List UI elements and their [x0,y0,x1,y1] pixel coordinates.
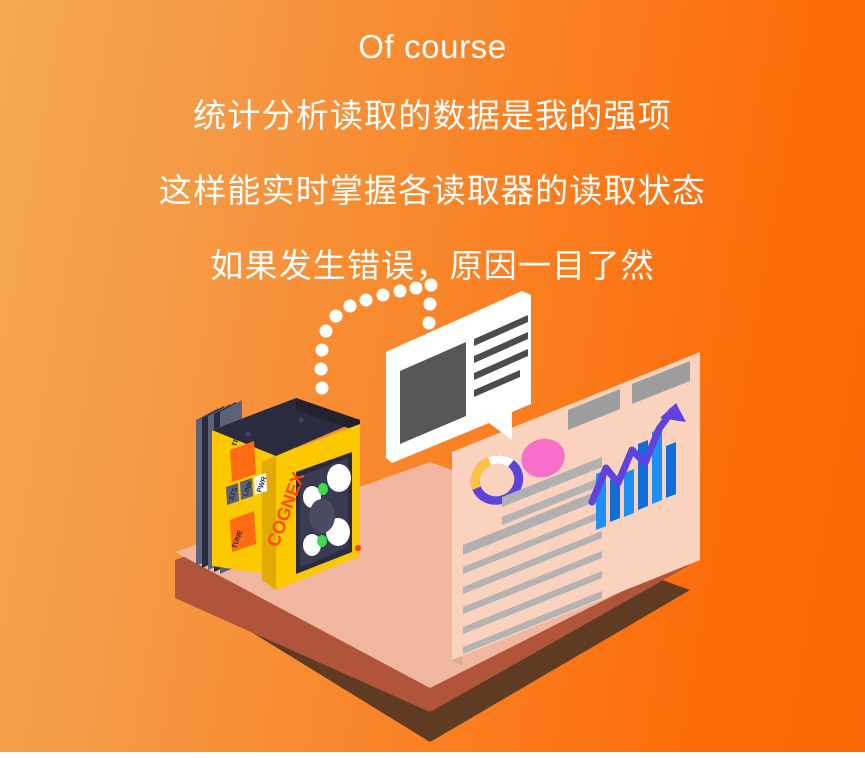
headline-line-1: 统计分析读取的数据是我的强项 [0,63,865,137]
headline-line-3: 如果发生错误，原因一目了然 [0,212,865,287]
headline-line-2: 这样能实时掌握各读取器的读取状态 [0,137,865,212]
barcode-reader: TRIG STS LINK PWR TUNE COGNEX [196,398,361,590]
reader-lens [309,499,335,533]
bottom-strip [0,752,865,758]
reader-screw-icon [245,431,250,436]
illustration-banner: TRIG STS LINK PWR TUNE COGNEX Of course … [0,0,865,758]
headline-block: Of course 统计分析读取的数据是我的强项 这样能实时掌握各读取器的读取状… [0,0,865,287]
reader-screw-icon [298,417,303,422]
reader-power-led [355,545,361,551]
headline-english: Of course [0,0,865,63]
speech-bubble [386,291,531,463]
